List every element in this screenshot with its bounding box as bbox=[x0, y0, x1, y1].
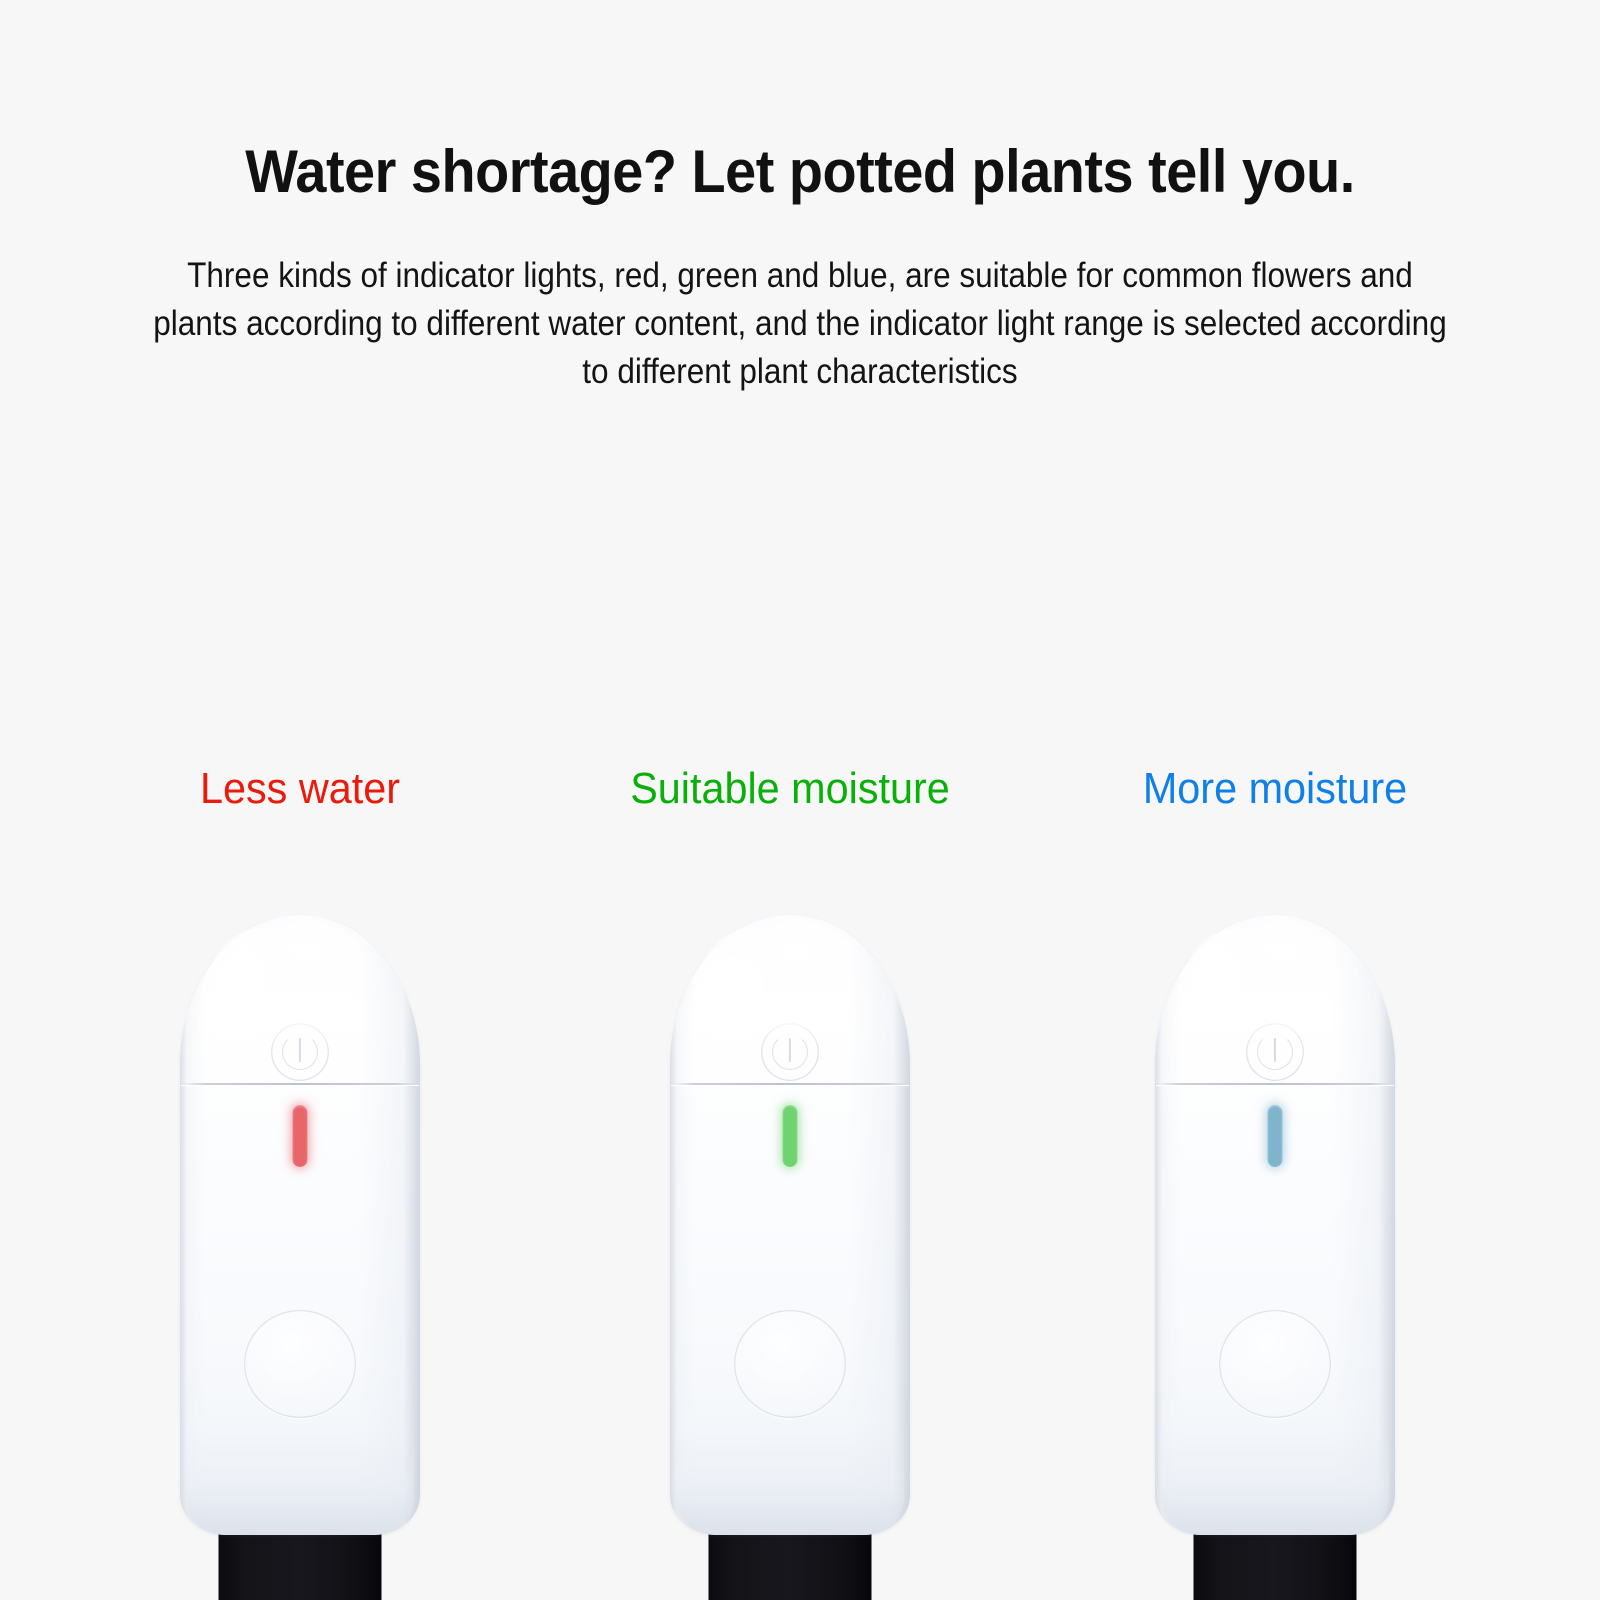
body-bottom-shading bbox=[1161, 1425, 1389, 1535]
body-seam-line bbox=[1156, 1083, 1394, 1085]
led-indicator-bar bbox=[783, 1105, 798, 1167]
product-column-more-moisture: More moisture bbox=[1030, 0, 1520, 1600]
power-symbol-icon[interactable] bbox=[761, 1023, 819, 1081]
moisture-sensor-device-red bbox=[180, 915, 420, 1600]
product-infographic-page: Water shortage? Let potted plants tell y… bbox=[0, 0, 1600, 1600]
body-bottom-shading bbox=[676, 1425, 904, 1535]
dome-highlight-top bbox=[242, 921, 372, 991]
sensor-body bbox=[180, 915, 420, 1535]
power-icon-stem bbox=[299, 1038, 301, 1062]
column-label-more-moisture: More moisture bbox=[1045, 762, 1506, 816]
power-icon-stem bbox=[789, 1038, 791, 1062]
sensor-body bbox=[1155, 915, 1395, 1535]
moisture-sensor-device-green bbox=[670, 915, 910, 1600]
led-indicator-bar bbox=[293, 1105, 308, 1167]
product-column-less-water: Less water bbox=[55, 0, 545, 1600]
led-indicator-bar bbox=[1268, 1105, 1283, 1167]
body-seam-line bbox=[181, 1083, 419, 1085]
body-bottom-shading bbox=[186, 1425, 414, 1535]
power-symbol-icon[interactable] bbox=[271, 1023, 329, 1081]
power-icon-stem bbox=[1274, 1038, 1276, 1062]
power-symbol-icon[interactable] bbox=[1246, 1023, 1304, 1081]
dome-highlight-top bbox=[1217, 921, 1347, 991]
product-column-suitable-moisture: Suitable moisture bbox=[545, 0, 1035, 1600]
product-columns: Less water bbox=[0, 0, 1600, 1600]
moisture-sensor-device-blue bbox=[1155, 915, 1395, 1600]
front-button[interactable] bbox=[734, 1310, 846, 1418]
sensor-body bbox=[670, 915, 910, 1535]
front-button[interactable] bbox=[1219, 1310, 1331, 1418]
column-label-less-water: Less water bbox=[70, 762, 531, 816]
front-button[interactable] bbox=[244, 1310, 356, 1418]
dome-highlight-top bbox=[732, 921, 862, 991]
column-label-suitable-moisture: Suitable moisture bbox=[560, 762, 1021, 816]
body-seam-line bbox=[671, 1083, 909, 1085]
